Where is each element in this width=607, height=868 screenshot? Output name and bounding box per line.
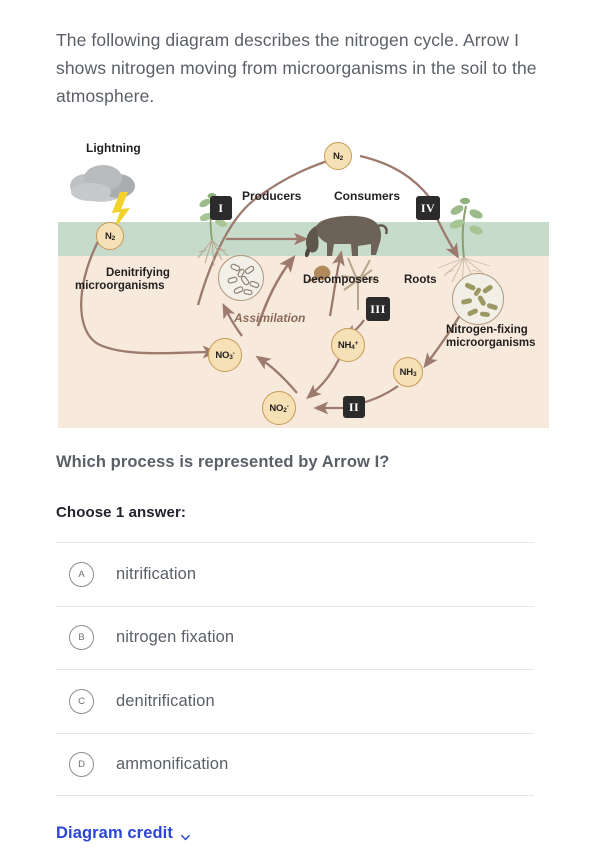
answer-choice-c[interactable]: C denitrification	[56, 669, 534, 733]
nitrogen-cycle-diagram: N2 N2 NO3- NO2- NH4+ NH3 I IV III II Lig…	[58, 130, 549, 428]
chevron-down-icon	[180, 829, 190, 839]
label-denitrifying-2: microorganisms	[75, 280, 164, 293]
label-lightning: Lightning	[86, 142, 141, 155]
right-plant-icon	[438, 198, 490, 285]
label-roots: Roots	[404, 274, 437, 287]
diagram-credit-toggle[interactable]: Diagram credit	[56, 824, 190, 843]
arrow-no2-to-no3	[262, 360, 297, 393]
marker-IV: IV	[416, 196, 440, 220]
label-nfixing: Nitrogen-fixing	[446, 324, 528, 337]
label-decomposers: Decomposers	[303, 274, 379, 287]
answer-choice-d[interactable]: D ammonification	[56, 733, 534, 797]
exercise-page: The following diagram describes the nitr…	[0, 0, 607, 868]
question-text: Which process is represented by Arrow I?	[56, 453, 556, 472]
radio-c[interactable]: C	[69, 689, 94, 714]
choose-label: Choose 1 answer:	[56, 504, 186, 521]
answer-text-d: ammonification	[116, 755, 228, 774]
radio-d[interactable]: D	[69, 752, 94, 777]
prompt-text: The following diagram describes the nitr…	[56, 26, 556, 110]
arrow-IV-path	[436, 216, 455, 252]
molecule-nh4: NH4+	[331, 328, 365, 362]
answer-text-a: nitrification	[116, 565, 196, 584]
molecule-n2-left: N2	[96, 222, 124, 250]
answer-choice-a[interactable]: A nitrification	[56, 542, 534, 606]
nitrogen-fixing-microbes-icon	[452, 273, 504, 325]
answer-choice-b[interactable]: B nitrogen fixation	[56, 606, 534, 670]
molecule-no2: NO2-	[262, 391, 296, 425]
marker-II: II	[343, 396, 365, 418]
cow-icon	[305, 216, 387, 257]
molecule-nh3: NH3	[393, 357, 423, 387]
marker-I: I	[210, 196, 232, 220]
label-assimilation: Assimilation	[234, 312, 305, 325]
denitrifying-microbes-icon	[218, 255, 264, 301]
radio-a[interactable]: A	[69, 562, 94, 587]
label-consumers: Consumers	[334, 190, 400, 203]
diagram-credit-label: Diagram credit	[56, 824, 173, 843]
arrow-n2-to-no3	[81, 234, 210, 353]
answer-text-b: nitrogen fixation	[116, 628, 234, 647]
answer-choices: A nitrification B nitrogen fixation C de…	[56, 542, 534, 796]
label-denitrifying: Denitrifying	[106, 267, 170, 280]
answer-text-c: denitrification	[116, 692, 215, 711]
marker-III: III	[366, 297, 390, 321]
molecule-no3: NO3-	[208, 338, 242, 372]
label-producers: Producers	[242, 190, 301, 203]
radio-b[interactable]: B	[69, 625, 94, 650]
arrow-assimilation-nh4	[330, 258, 340, 316]
label-nfixing-2: microorganisms	[446, 337, 535, 350]
molecule-n2-top: N2	[324, 142, 352, 170]
